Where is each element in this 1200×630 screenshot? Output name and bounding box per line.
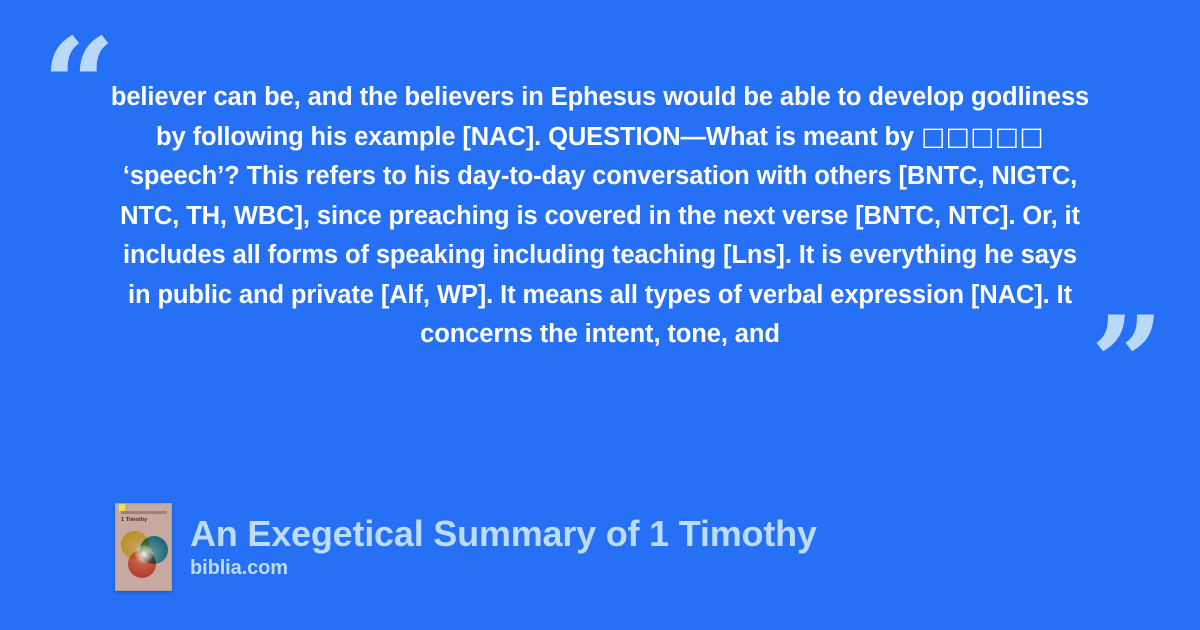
quote-text: believer can be, and the believers in Ep… — [110, 78, 1090, 355]
brand-text-block: An Exegetical Summary of 1 Timothy bibli… — [190, 513, 817, 581]
branding: 1 Timothy An Exegetical Summary of 1 Tim… — [115, 503, 817, 591]
site-name[interactable]: biblia.com — [190, 555, 817, 581]
venn-center-glow — [135, 545, 153, 563]
book-cover-thumbnail: 1 Timothy — [115, 503, 172, 591]
book-cover-title: 1 Timothy — [121, 517, 147, 523]
opening-quote-icon: “ — [42, 22, 116, 150]
quote-text-segment-2: ‘speech’? This refers to his day-to-day … — [120, 162, 1080, 348]
book-title: An Exegetical Summary of 1 Timothy — [190, 513, 817, 555]
quote-card: “ believer can be, and the believers in … — [0, 0, 1200, 630]
closing-quote-icon: ” — [1090, 300, 1164, 428]
greek-word-missing-glyphs: □□□□□ — [921, 122, 1044, 152]
book-cover-publisher-line — [121, 511, 167, 514]
venn-diagram-icon — [119, 530, 170, 582]
book-cover-tab — [119, 504, 125, 511]
